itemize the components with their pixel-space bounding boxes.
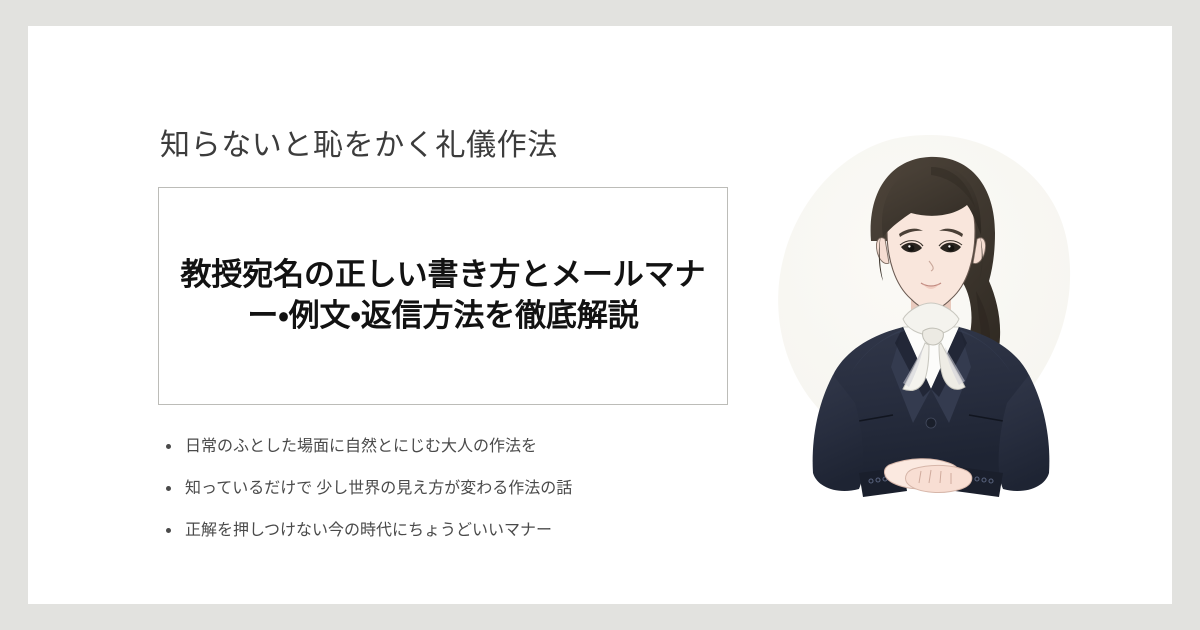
- bullet-list: 日常のふとした場面に自然とにじむ大人の作法を 知っているだけで 少し世界の見え方…: [158, 435, 778, 543]
- list-item-label: 正解を押しつけない今の時代にちょうどいいマナー: [185, 522, 552, 539]
- text-column: 知らないと恥をかく礼儀作法 教授宛名の正しい書き方とメールマナー・例文・返信方法…: [158, 126, 778, 543]
- kicker-heading: 知らないと恥をかく礼儀作法: [160, 126, 778, 165]
- bullet-dot-icon: [166, 444, 171, 449]
- list-item-label: 知っているだけで 少し世界の見え方が変わる作法の話: [185, 480, 572, 497]
- ogp-canvas: 知らないと恥をかく礼儀作法 教授宛名の正しい書き方とメールマナー・例文・返信方法…: [0, 0, 1200, 630]
- list-item-label: 日常のふとした場面に自然とにじむ大人の作法を: [185, 438, 537, 455]
- businesswoman-illustration: [763, 121, 1093, 521]
- list-item: 日常のふとした場面に自然とにじむ大人の作法を: [158, 435, 778, 458]
- bullet-dot-icon: [166, 528, 171, 533]
- content-card: 知らないと恥をかく礼儀作法 教授宛名の正しい書き方とメールマナー・例文・返信方法…: [28, 26, 1172, 604]
- title-box: 教授宛名の正しい書き方とメールマナー・例文・返信方法を徹底解説: [158, 187, 728, 405]
- list-item: 正解を押しつけない今の時代にちょうどいいマナー: [158, 519, 778, 542]
- bullet-dot-icon: [166, 486, 171, 491]
- page-title: 教授宛名の正しい書き方とメールマナー・例文・返信方法を徹底解説: [179, 255, 707, 337]
- list-item: 知っているだけで 少し世界の見え方が変わる作法の話: [158, 477, 778, 500]
